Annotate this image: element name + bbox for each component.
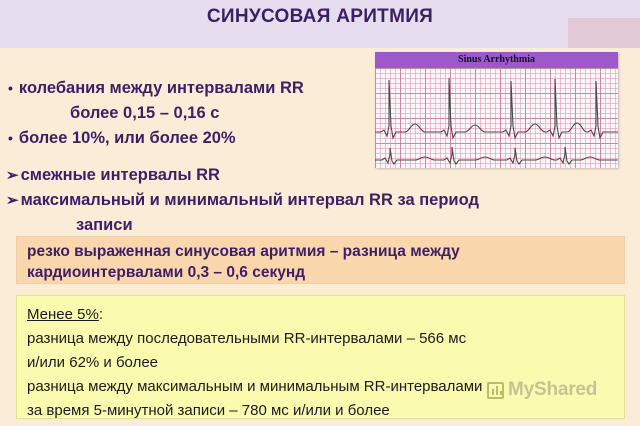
list-item-label: смежные интервалы RR (21, 166, 220, 184)
list-item: ➢максимальный и минимальный интервал RR … (6, 188, 626, 213)
list-item: более 0,15 – 0,16 с (8, 101, 368, 126)
ecg-caption: Sinus Arrhythmia (375, 52, 618, 68)
callout-line: резко выраженная синусовая аритмия – раз… (27, 241, 614, 262)
arrow-list: ➢смежные интервалы RR ➢максимальный и ми… (6, 163, 626, 237)
callout-line: разница между максимальным и минимальным… (27, 375, 614, 399)
ecg-figure: Sinus Arrhythmia (375, 52, 618, 168)
list-item: •более 10%, или более 20% (8, 126, 368, 151)
callout-heading-text: Менее 5% (27, 306, 99, 323)
callout-line: за время 5-минутной записи – 780 мс и/ил… (27, 399, 614, 423)
callout-heading: Менее 5%: (27, 303, 614, 327)
page-title: СИНУСОВАЯ АРИТМИЯ (0, 6, 640, 28)
list-item-label: записи (76, 216, 133, 234)
arrow-bullet-icon: ➢ (6, 192, 19, 209)
callout-box-yellow: Менее 5%: разница между последовательным… (16, 295, 625, 419)
callout-line: кардиоинтервалами 0,3 – 0,6 секунд (27, 262, 614, 283)
dot-bullet-icon: • (8, 80, 13, 96)
callout-line: разница между последовательными RR-интер… (27, 327, 614, 351)
bullet-list: •колебания между интервалами RR более 0,… (8, 76, 368, 151)
list-item: •колебания между интервалами RR (8, 76, 368, 101)
list-item-label: колебания между интервалами RR (19, 79, 304, 97)
slide: СИНУСОВАЯ АРИТМИЯ •колебания между интер… (0, 0, 640, 426)
list-item-label: максимальный и минимальный интервал RR з… (21, 191, 479, 209)
list-item-label: более 0,15 – 0,16 с (70, 104, 219, 122)
callout-heading-suffix: : (99, 306, 103, 323)
callout-box-orange: резко выраженная синусовая аритмия – раз… (16, 236, 625, 284)
list-item-label: более 10%, или более 20% (19, 129, 236, 147)
ecg-waveform (375, 68, 618, 168)
dot-bullet-icon: • (8, 130, 13, 146)
arrow-bullet-icon: ➢ (6, 167, 19, 184)
callout-line: и/или 62% и более (27, 351, 614, 375)
list-item: записи (6, 213, 626, 237)
